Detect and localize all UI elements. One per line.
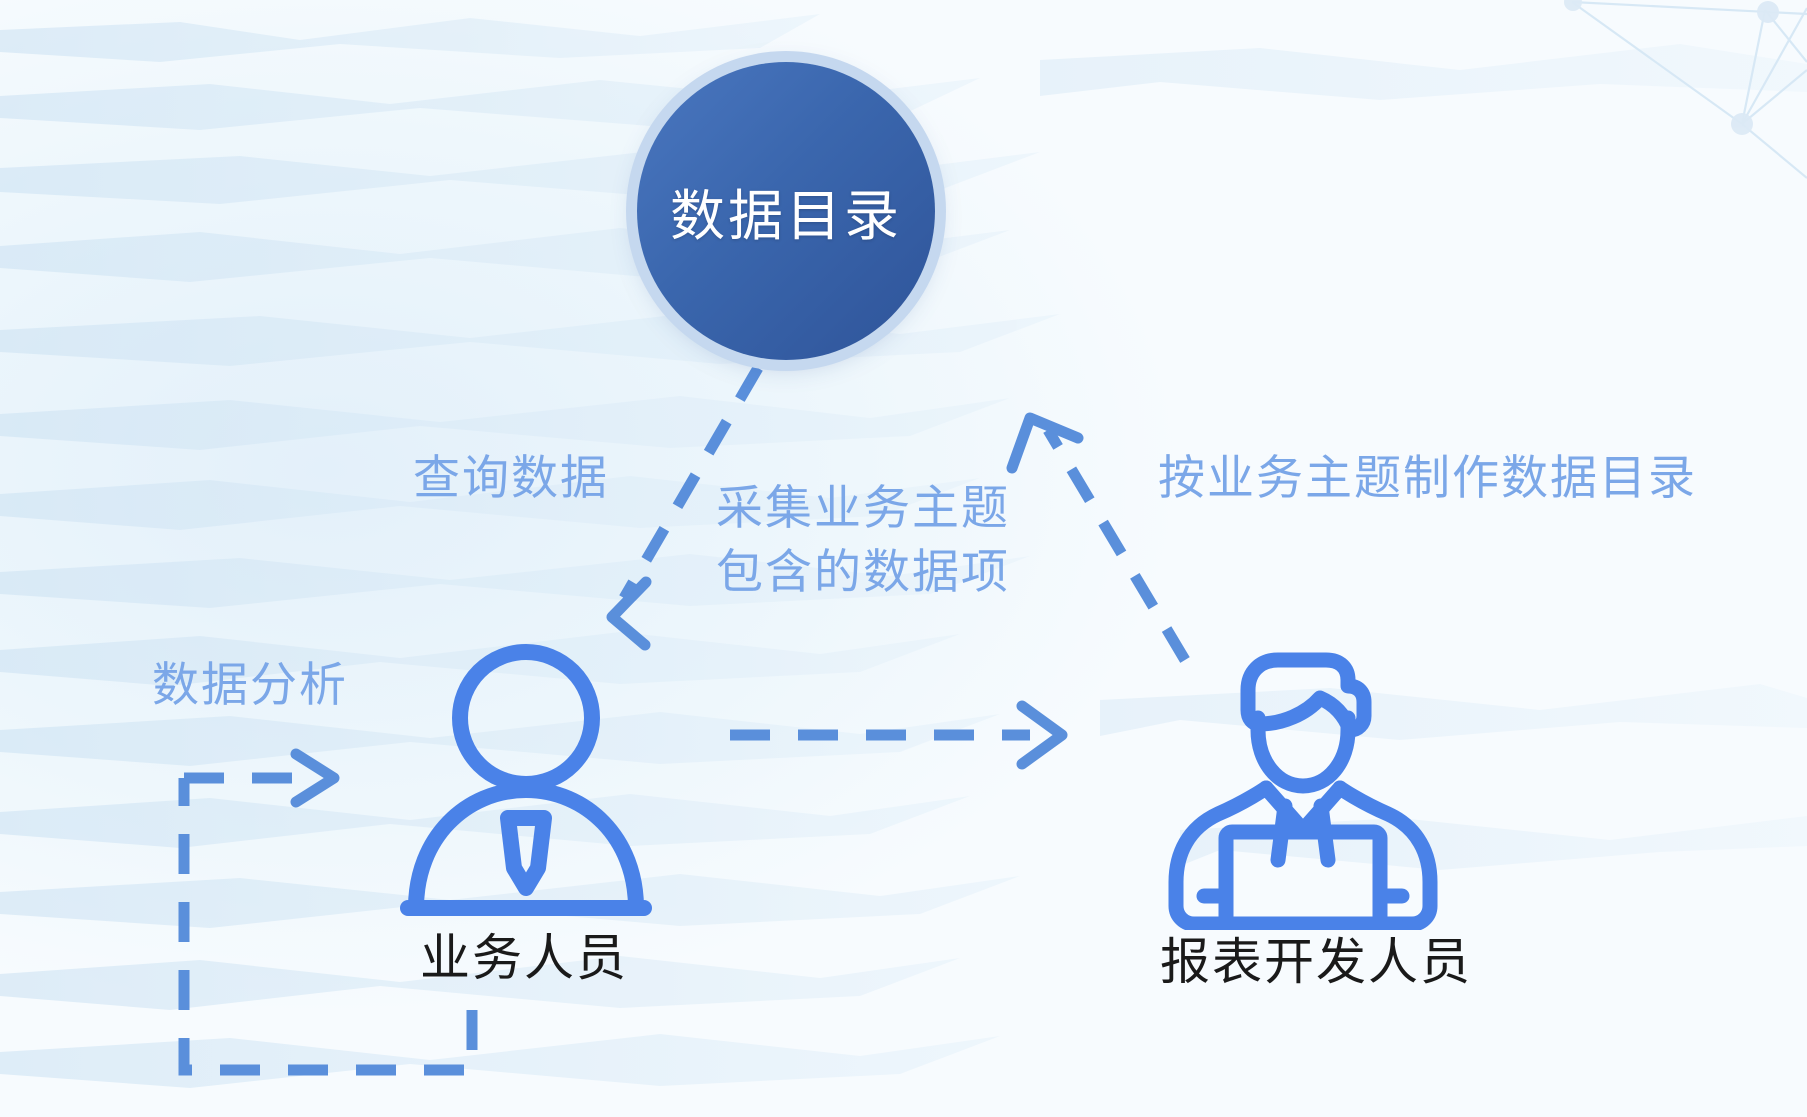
report-developer-caption: 报表开发人员 xyxy=(1160,922,1472,994)
edge-collect-items-arrow xyxy=(730,706,1062,764)
data-catalog-node[interactable]: 数据目录 xyxy=(637,62,935,360)
data-catalog-label: 数据目录 xyxy=(670,171,902,251)
edge-label-collect-items-line2: 包含的数据项 xyxy=(716,540,1010,604)
edge-label-query-data: 查询数据 xyxy=(413,446,609,510)
business-person-caption: 业务人员 xyxy=(420,918,628,990)
edge-label-collect-items-line1: 采集业务主题 xyxy=(716,476,1010,540)
report-developer-icon[interactable] xyxy=(1148,610,1458,930)
diagram-canvas: 数据目录 查询数据 采集业务主题 包含的数据项 按业务主题制作数据目录 数据分析 xyxy=(0,0,1807,1117)
edge-label-data-analysis: 数据分析 xyxy=(152,653,348,717)
business-person-icon[interactable] xyxy=(392,640,660,930)
edge-label-build-catalog: 按业务主题制作数据目录 xyxy=(1158,446,1697,510)
edge-label-collect-items: 采集业务主题 包含的数据项 xyxy=(716,476,1010,604)
